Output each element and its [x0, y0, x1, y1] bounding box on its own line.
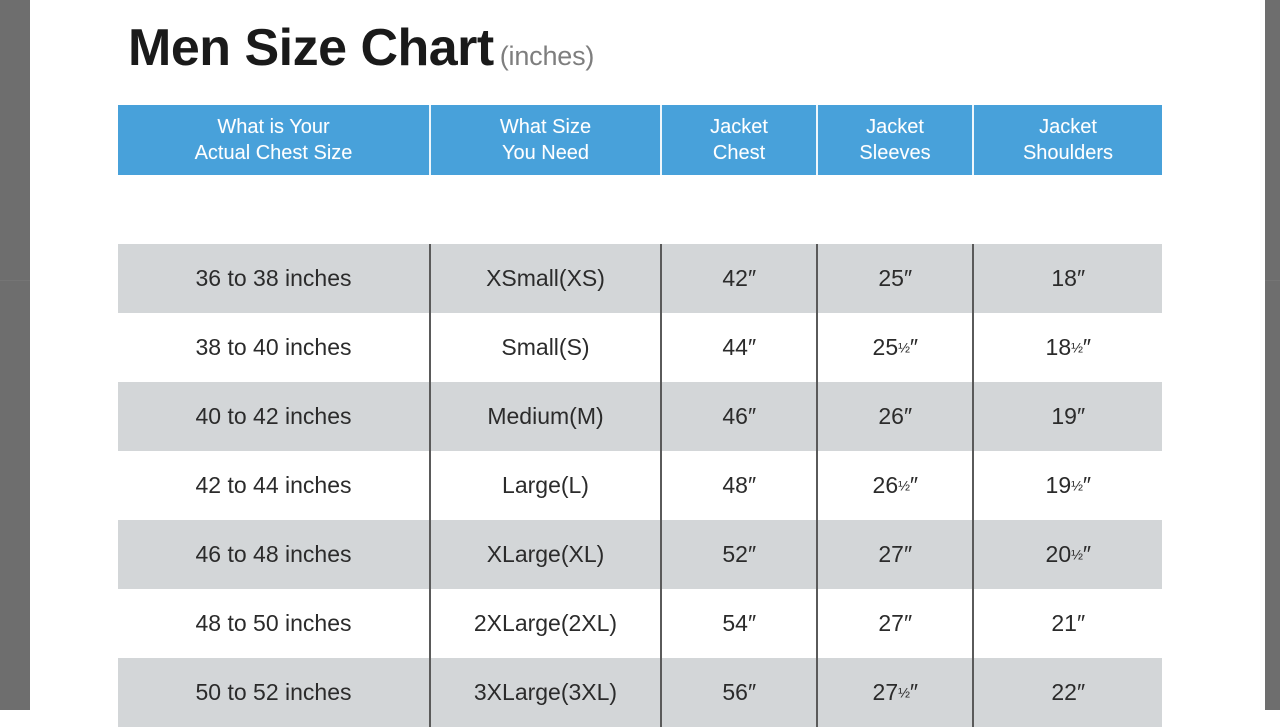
table-header: What is Your Actual Chest Size What Size…	[118, 105, 1162, 175]
table-body: 36 to 38 inches XSmall(XS) 42″ 25″ 18″ 3…	[118, 175, 1162, 727]
cell-chest-range: 36 to 38 inches	[118, 244, 431, 313]
cell-size-needed: XSmall(XS)	[431, 244, 662, 313]
cell-jacket-chest: 42″	[662, 244, 818, 313]
cell-jacket-chest: 48″	[662, 451, 818, 520]
column-header-jacket-shoulders: Jacket Shoulders	[974, 105, 1162, 175]
cell-jacket-sleeves: 26½″	[818, 451, 974, 520]
column-header-line-1: What Size	[500, 116, 591, 138]
table-row: 48 to 50 inches 2XLarge(2XL) 54″ 27″ 21″	[118, 589, 1162, 658]
page-title-main: Men Size Chart	[128, 19, 494, 77]
table-row: 46 to 48 inches XLarge(XL) 52″ 27″ 20½″	[118, 520, 1162, 589]
cell-size-needed: Large(L)	[431, 451, 662, 520]
column-header-line-1: What is Your	[217, 116, 329, 138]
column-header-jacket-chest: Jacket Chest	[662, 105, 818, 175]
cell-jacket-shoulders: 18½″	[974, 313, 1162, 382]
cell-size-needed: Small(S)	[431, 313, 662, 382]
cell-jacket-chest: 54″	[662, 589, 818, 658]
cell-chest-range: 46 to 48 inches	[118, 520, 431, 589]
cell-size-needed: XLarge(XL)	[431, 520, 662, 589]
cell-jacket-shoulders: 22″	[974, 658, 1162, 727]
cell-size-needed: Medium(M)	[431, 382, 662, 451]
cell-jacket-sleeves: 25½″	[818, 313, 974, 382]
column-header-size-you-need: What Size You Need	[431, 105, 662, 175]
cell-chest-range: 38 to 40 inches	[118, 313, 431, 382]
cell-size-needed: 2XLarge(2XL)	[431, 589, 662, 658]
page-title-unit: (inches)	[500, 41, 594, 71]
cell-jacket-shoulders: 20½″	[974, 520, 1162, 589]
cell-chest-range: 50 to 52 inches	[118, 658, 431, 727]
cell-jacket-chest: 44″	[662, 313, 818, 382]
column-header-line-2: Chest	[713, 142, 765, 164]
cell-jacket-sleeves: 27″	[818, 520, 974, 589]
table-row: 40 to 42 inches Medium(M) 46″ 26″ 19″	[118, 382, 1162, 451]
table-row: 50 to 52 inches 3XLarge(3XL) 56″ 27½″ 22…	[118, 658, 1162, 727]
column-header-line-1: Jacket	[1039, 116, 1097, 138]
column-header-line-1: Jacket	[710, 116, 768, 138]
table-header-row: What is Your Actual Chest Size What Size…	[118, 105, 1162, 175]
cell-chest-range: 40 to 42 inches	[118, 382, 431, 451]
cell-chest-range: 42 to 44 inches	[118, 451, 431, 520]
page-root: Men Size Chart(inches) What is Your Actu…	[0, 0, 1280, 710]
letterbox-band-right	[1265, 0, 1280, 710]
cell-jacket-sleeves: 25″	[818, 244, 974, 313]
cell-jacket-sleeves: 27″	[818, 589, 974, 658]
page-title: Men Size Chart(inches)	[128, 18, 594, 78]
header-body-gap-cell	[118, 175, 1162, 244]
cell-jacket-sleeves: 26″	[818, 382, 974, 451]
column-header-actual-chest-size: What is Your Actual Chest Size	[118, 105, 431, 175]
cell-jacket-chest: 46″	[662, 382, 818, 451]
cell-jacket-shoulders: 19½″	[974, 451, 1162, 520]
column-header-jacket-sleeves: Jacket Sleeves	[818, 105, 974, 175]
column-header-line-1: Jacket	[866, 116, 924, 138]
table-row: 36 to 38 inches XSmall(XS) 42″ 25″ 18″	[118, 244, 1162, 313]
header-body-gap	[118, 175, 1162, 244]
column-header-line-2: Actual Chest Size	[195, 142, 353, 164]
letterbox-band-left	[0, 0, 30, 710]
cell-jacket-shoulders: 18″	[974, 244, 1162, 313]
cell-jacket-sleeves: 27½″	[818, 658, 974, 727]
cell-size-needed: 3XLarge(3XL)	[431, 658, 662, 727]
cell-jacket-chest: 52″	[662, 520, 818, 589]
column-header-line-2: You Need	[502, 142, 589, 164]
table-row: 38 to 40 inches Small(S) 44″ 25½″ 18½″	[118, 313, 1162, 382]
cell-jacket-shoulders: 19″	[974, 382, 1162, 451]
slide-canvas: Men Size Chart(inches) What is Your Actu…	[30, 0, 1265, 710]
cell-chest-range: 48 to 50 inches	[118, 589, 431, 658]
size-chart-table: What is Your Actual Chest Size What Size…	[118, 105, 1162, 727]
column-header-line-2: Shoulders	[1023, 142, 1113, 164]
column-header-line-2: Sleeves	[859, 142, 930, 164]
cell-jacket-shoulders: 21″	[974, 589, 1162, 658]
cell-jacket-chest: 56″	[662, 658, 818, 727]
table-row: 42 to 44 inches Large(L) 48″ 26½″ 19½″	[118, 451, 1162, 520]
